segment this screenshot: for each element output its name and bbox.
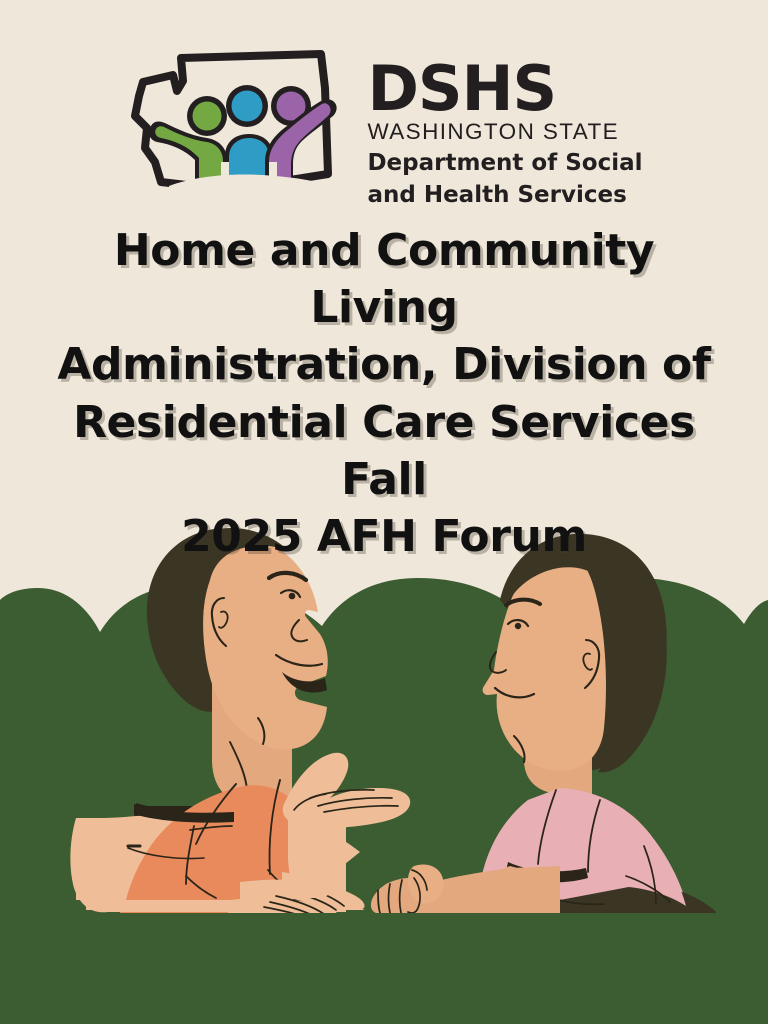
- dshs-department-line-2: and Health Services: [367, 181, 642, 209]
- slide: DSHS WASHINGTON STATE Department of Soci…: [0, 0, 768, 1024]
- slide-title: Home and Community Living Administration…: [54, 222, 714, 565]
- dshs-state-line: WASHINGTON STATE: [367, 120, 642, 145]
- dshs-logo-mark: [125, 44, 357, 196]
- dshs-acronym: DSHS: [367, 60, 642, 117]
- dshs-department-line-1: Department of Social: [367, 149, 642, 177]
- dshs-logo: DSHS WASHINGTON STATE Department of Soci…: [0, 44, 768, 209]
- dshs-logo-wordmark: DSHS WASHINGTON STATE Department of Soci…: [367, 44, 642, 209]
